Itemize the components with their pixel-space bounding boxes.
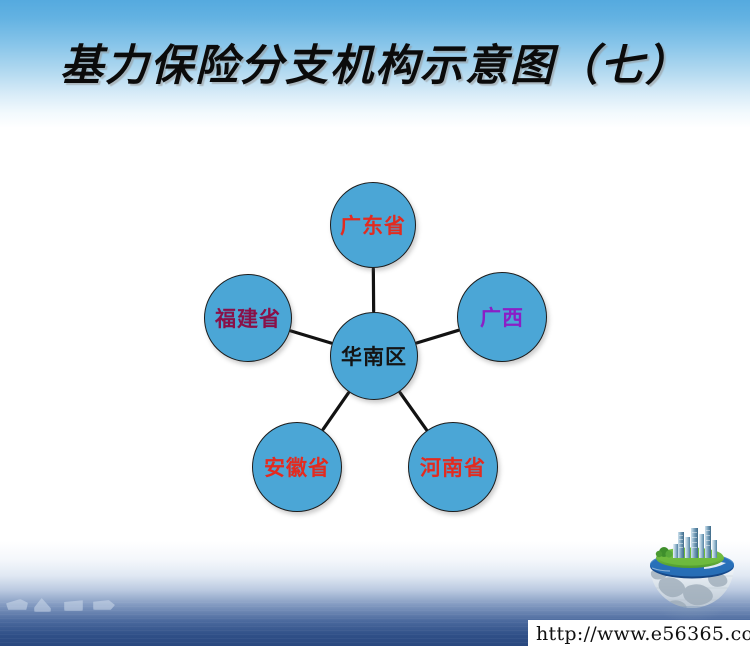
diagram-connector: [417, 330, 458, 342]
earth-city-globe-icon: [642, 524, 742, 624]
org-diagram: 广东省广西福建省安徽省河南省华南区: [0, 0, 750, 646]
diagram-node-label: 福建省: [215, 308, 281, 329]
diagram-node-label: 华南区: [341, 346, 407, 367]
diagram-connector: [323, 393, 348, 429]
diagram-node-label: 广东省: [340, 215, 406, 236]
diagram-node-branch[interactable]: 福建省: [204, 274, 292, 362]
diagram-connector: [400, 393, 426, 430]
slide-canvas: 基力保险分支机构示意图（七） 广东省广西福建省安徽省河南省华南区: [0, 0, 750, 646]
diagram-node-branch[interactable]: 河南省: [408, 422, 498, 512]
diagram-node-label: 安徽省: [264, 457, 330, 478]
diagram-node-label: 广西: [480, 307, 524, 328]
diagram-node-label: 河南省: [420, 457, 486, 478]
diagram-connector: [291, 331, 331, 343]
diagram-node-branch[interactable]: 广西: [457, 272, 547, 362]
diagram-node-branch[interactable]: 广东省: [330, 182, 416, 268]
diagram-node-branch[interactable]: 安徽省: [252, 422, 342, 512]
site-url-text: http://www.e56365.com: [536, 623, 750, 645]
site-url-watermark: http://www.e56365.com: [528, 620, 750, 646]
diagram-node-center[interactable]: 华南区: [330, 312, 418, 400]
